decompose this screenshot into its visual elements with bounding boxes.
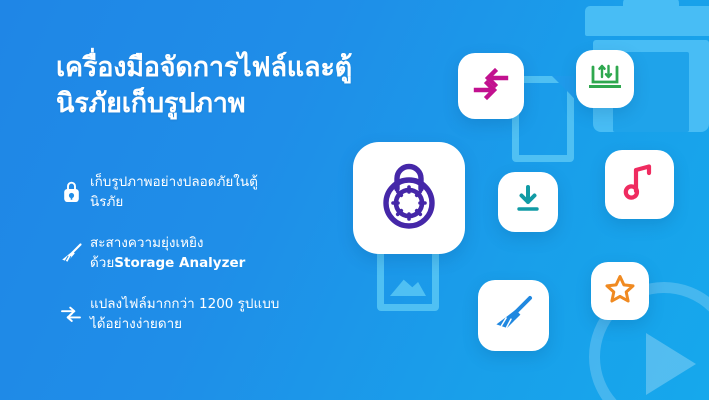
promo-banner: เครื่องมือจัดการไฟล์และตู้นิรภัยเก็บรูปภ…: [0, 0, 709, 400]
combination-padlock-icon: [378, 161, 440, 235]
feature-text-convert-files: แปลงไฟล์มากกว่า 1200 รูปแบบ ได้อย่างง่าย…: [86, 295, 279, 334]
transfer-arrows-icon: [56, 297, 86, 331]
feature-text-secure-vault: เก็บรูปภาพอย่างปลอดภัยในตู้ นิรภัย: [86, 173, 258, 212]
tile-clean[interactable]: [478, 280, 549, 351]
broom-icon: [56, 236, 86, 270]
image-mountain-shape: [390, 276, 426, 296]
trash-can-lid: [585, 6, 709, 36]
tile-photo-vault[interactable]: [353, 142, 465, 254]
laptop-sync-icon: [587, 61, 623, 97]
feature-line-1: แปลงไฟล์มากกว่า 1200 รูปแบบ: [90, 296, 279, 312]
feature-item-storage-analyzer: สะสางความยุ่งเหยิง ด้วยStorage Analyzer: [56, 234, 356, 273]
text-column: เครื่องมือจัดการไฟล์และตู้นิรภัยเก็บรูปภ…: [0, 0, 360, 400]
feature-text-storage-analyzer: สะสางความยุ่งเหยิง ด้วยStorage Analyzer: [86, 234, 245, 273]
trash-can-handle: [623, 0, 679, 11]
play-triangle: [646, 333, 696, 395]
feature-item-secure-vault: เก็บรูปภาพอย่างปลอดภัยในตู้ นิรภัย: [56, 173, 356, 212]
feature-bold-term: Storage Analyzer: [114, 255, 245, 271]
music-note-icon: [623, 163, 657, 207]
feature-line-2: นิรภัย: [90, 194, 123, 210]
feature-line-1: สะสางความยุ่งเหยิง: [90, 235, 204, 251]
tile-download[interactable]: [498, 172, 558, 232]
lock-icon: [56, 175, 86, 209]
feature-list: เก็บรูปภาพอย่างปลอดภัยในตู้ นิรภัย สะสาง…: [56, 173, 356, 356]
tile-favorites[interactable]: [591, 262, 649, 320]
feature-item-convert-files: แปลงไฟล์มากกว่า 1200 รูปแบบ ได้อย่างง่าย…: [56, 295, 356, 334]
page-title: เครื่องมือจัดการไฟล์และตู้นิรภัยเก็บรูปภ…: [56, 50, 356, 121]
transfer-arrows-icon: [470, 66, 512, 106]
feature-line-2: ได้อย่างง่ายดาย: [90, 316, 182, 332]
tile-laptop-sync[interactable]: [576, 50, 634, 108]
feature-line-2-prefix: ด้วย: [90, 255, 114, 271]
tile-file-transfer[interactable]: [458, 53, 524, 119]
tile-music[interactable]: [605, 150, 674, 219]
download-icon: [513, 184, 543, 220]
feature-line-1: เก็บรูปภาพอย่างปลอดภัยในตู้: [90, 174, 258, 190]
broom-icon: [493, 293, 535, 339]
star-outline-icon: [604, 273, 636, 309]
document-corner-fold: [552, 76, 574, 98]
